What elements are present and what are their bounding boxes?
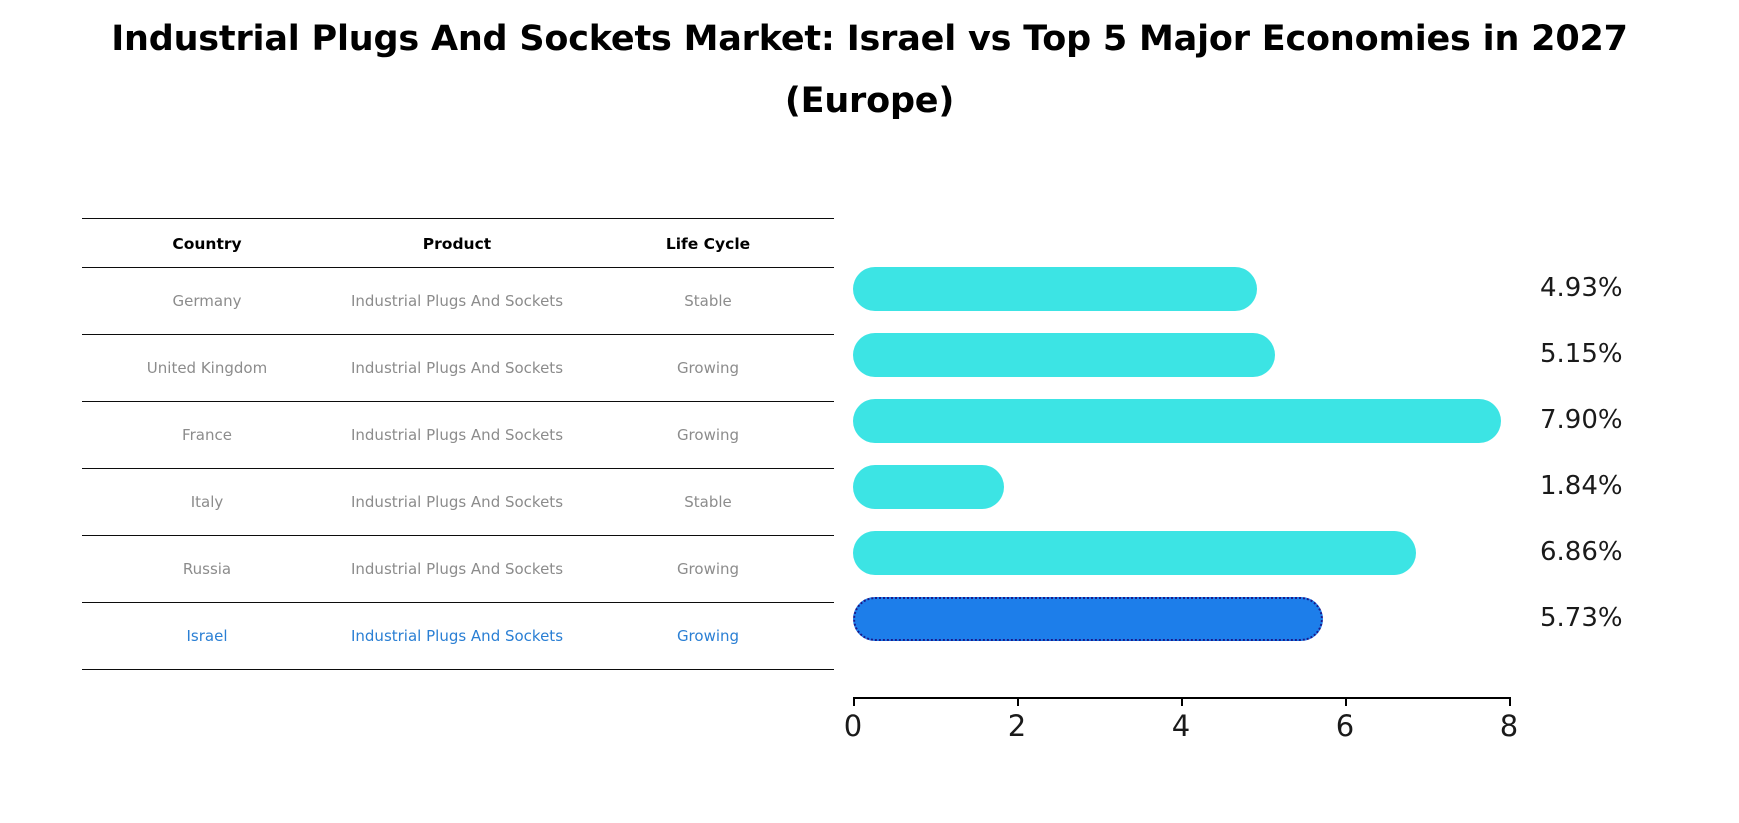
table-cell-product: Industrial Plugs And Sockets xyxy=(332,536,582,603)
column-header-life-cycle: Life Cycle xyxy=(582,219,834,268)
bar-row: 4.93% xyxy=(853,255,1739,321)
table-cell-life-cycle: Growing xyxy=(582,536,834,603)
x-axis-tick-label: 0 xyxy=(844,709,862,743)
x-axis-tick xyxy=(1345,697,1347,706)
bar-value-label: 6.86% xyxy=(1540,537,1623,567)
table-row[interactable]: United KingdomIndustrial Plugs And Socke… xyxy=(82,335,834,402)
page-subtitle: (Europe) xyxy=(0,70,1739,132)
bar[interactable] xyxy=(853,267,1257,311)
x-axis: 02468 xyxy=(853,697,1509,757)
table-row[interactable]: ItalyIndustrial Plugs And SocketsStable xyxy=(82,469,834,536)
bar-value-label: 5.15% xyxy=(1540,339,1623,369)
bar-row: 5.73% xyxy=(853,585,1739,651)
bar-highlighted[interactable] xyxy=(853,597,1323,641)
bar-value-label: 7.90% xyxy=(1540,405,1623,435)
table-cell-product: Industrial Plugs And Sockets xyxy=(332,469,582,536)
title-block: Industrial Plugs And Sockets Market: Isr… xyxy=(0,8,1739,132)
bar[interactable] xyxy=(853,465,1004,509)
column-header-product: Product xyxy=(332,219,582,268)
x-axis-tick-label: 2 xyxy=(1008,709,1026,743)
table-cell-country: Italy xyxy=(82,469,332,536)
table-cell-product: Industrial Plugs And Sockets xyxy=(332,268,582,335)
table-cell-country: Israel xyxy=(82,603,332,670)
table-header: Country Product Life Cycle xyxy=(82,219,834,268)
bar-row: 5.15% xyxy=(853,321,1739,387)
table-row[interactable]: IsraelIndustrial Plugs And SocketsGrowin… xyxy=(82,603,834,670)
x-axis-tick-label: 6 xyxy=(1336,709,1354,743)
table-cell-country: United Kingdom xyxy=(82,335,332,402)
table-cell-product: Industrial Plugs And Sockets xyxy=(332,603,582,670)
x-axis-tick xyxy=(1509,697,1511,706)
bar[interactable] xyxy=(853,531,1416,575)
table-cell-life-cycle: Growing xyxy=(582,603,834,670)
country-table-panel: Country Product Life Cycle GermanyIndust… xyxy=(82,218,834,670)
table-cell-life-cycle: Growing xyxy=(582,402,834,469)
bar-row: 7.90% xyxy=(853,387,1739,453)
table-header-row: Country Product Life Cycle xyxy=(82,219,834,268)
bar-row: 6.86% xyxy=(853,519,1739,585)
bar-chart: 4.93%5.15%7.90%1.84%6.86%5.73% xyxy=(853,255,1739,755)
table-body: GermanyIndustrial Plugs And SocketsStabl… xyxy=(82,268,834,670)
table-cell-life-cycle: Stable xyxy=(582,469,834,536)
table-row[interactable]: GermanyIndustrial Plugs And SocketsStabl… xyxy=(82,268,834,335)
bar-row: 1.84% xyxy=(853,453,1739,519)
table-cell-product: Industrial Plugs And Sockets xyxy=(332,402,582,469)
table-cell-country: France xyxy=(82,402,332,469)
table-cell-country: Germany xyxy=(82,268,332,335)
bar[interactable] xyxy=(853,333,1275,377)
table-row[interactable]: RussiaIndustrial Plugs And SocketsGrowin… xyxy=(82,536,834,603)
country-table: Country Product Life Cycle GermanyIndust… xyxy=(82,218,834,670)
table-cell-country: Russia xyxy=(82,536,332,603)
table-cell-life-cycle: Stable xyxy=(582,268,834,335)
x-axis-tick xyxy=(1181,697,1183,706)
bar-value-label: 5.73% xyxy=(1540,603,1623,633)
x-axis-tick-label: 8 xyxy=(1500,709,1518,743)
table-cell-life-cycle: Growing xyxy=(582,335,834,402)
x-axis-tick-label: 4 xyxy=(1172,709,1190,743)
table-row[interactable]: FranceIndustrial Plugs And SocketsGrowin… xyxy=(82,402,834,469)
x-axis-tick xyxy=(1017,697,1019,706)
x-axis-tick xyxy=(853,697,855,706)
bar-value-label: 1.84% xyxy=(1540,471,1623,501)
bar-value-label: 4.93% xyxy=(1540,273,1623,303)
bar[interactable] xyxy=(853,399,1501,443)
page-title: Industrial Plugs And Sockets Market: Isr… xyxy=(0,8,1739,70)
column-header-country: Country xyxy=(82,219,332,268)
table-cell-product: Industrial Plugs And Sockets xyxy=(332,335,582,402)
